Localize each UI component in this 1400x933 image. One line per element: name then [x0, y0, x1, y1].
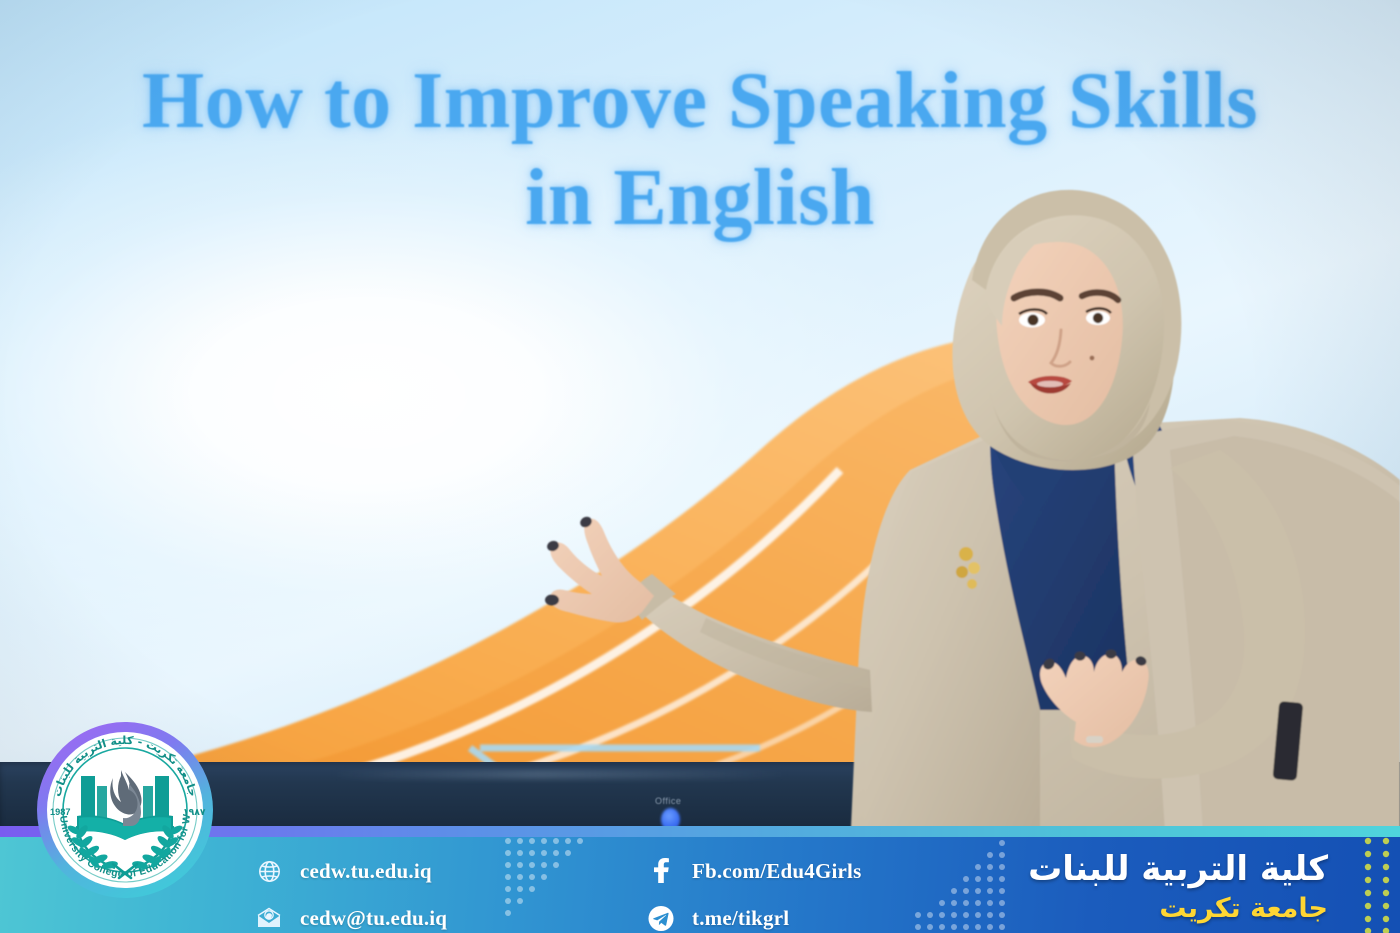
footer-arabic-identity: كلية التربية للبنات جامعة تكريت	[1028, 850, 1328, 925]
footer-college-name-ar: كلية التربية للبنات	[1028, 850, 1328, 889]
footer-facebook-text: Fb.com/Edu4Girls	[692, 859, 861, 884]
footer-email-row[interactable]: @ cedw@tu.edu.iq	[256, 903, 447, 933]
university-emblem: جامعة تكريت - كلية التربية للبنات Tikrit…	[33, 718, 218, 903]
footer-website-text: cedw.tu.edu.iq	[300, 859, 432, 884]
footer-email-text: cedw@tu.edu.iq	[300, 906, 447, 931]
footer-university-name-ar: جامعة تكريت	[1028, 893, 1328, 925]
envelope-icon: @	[256, 905, 282, 931]
footer-telegram-text: t.me/tikgrl	[692, 906, 789, 931]
globe-icon	[256, 858, 282, 884]
footer-web-contacts: cedw.tu.edu.iq @ cedw@tu.edu.iq	[256, 856, 447, 933]
presenter-figure	[520, 150, 1400, 850]
emblem-year-latin: 1987	[50, 807, 70, 817]
footer-telegram-row[interactable]: t.me/tikgrl	[648, 903, 861, 933]
emblem-year-arabic: ١٩٨٧	[183, 807, 206, 818]
dot-pattern-left	[502, 837, 622, 931]
footer-website-row[interactable]: cedw.tu.edu.iq	[256, 856, 447, 886]
dot-pattern-right	[912, 837, 1022, 933]
svg-text:@: @	[267, 913, 272, 919]
facebook-icon	[648, 858, 674, 884]
telegram-icon	[648, 905, 674, 931]
footer-social-contacts: Fb.com/Edu4Girls t.me/tikgrl	[648, 856, 861, 933]
dot-pattern-edge-gold	[1356, 837, 1400, 933]
screenshot-stage: How to Improve Speaking Skills in Englis…	[0, 0, 1400, 933]
footer-facebook-row[interactable]: Fb.com/Edu4Girls	[648, 856, 861, 886]
